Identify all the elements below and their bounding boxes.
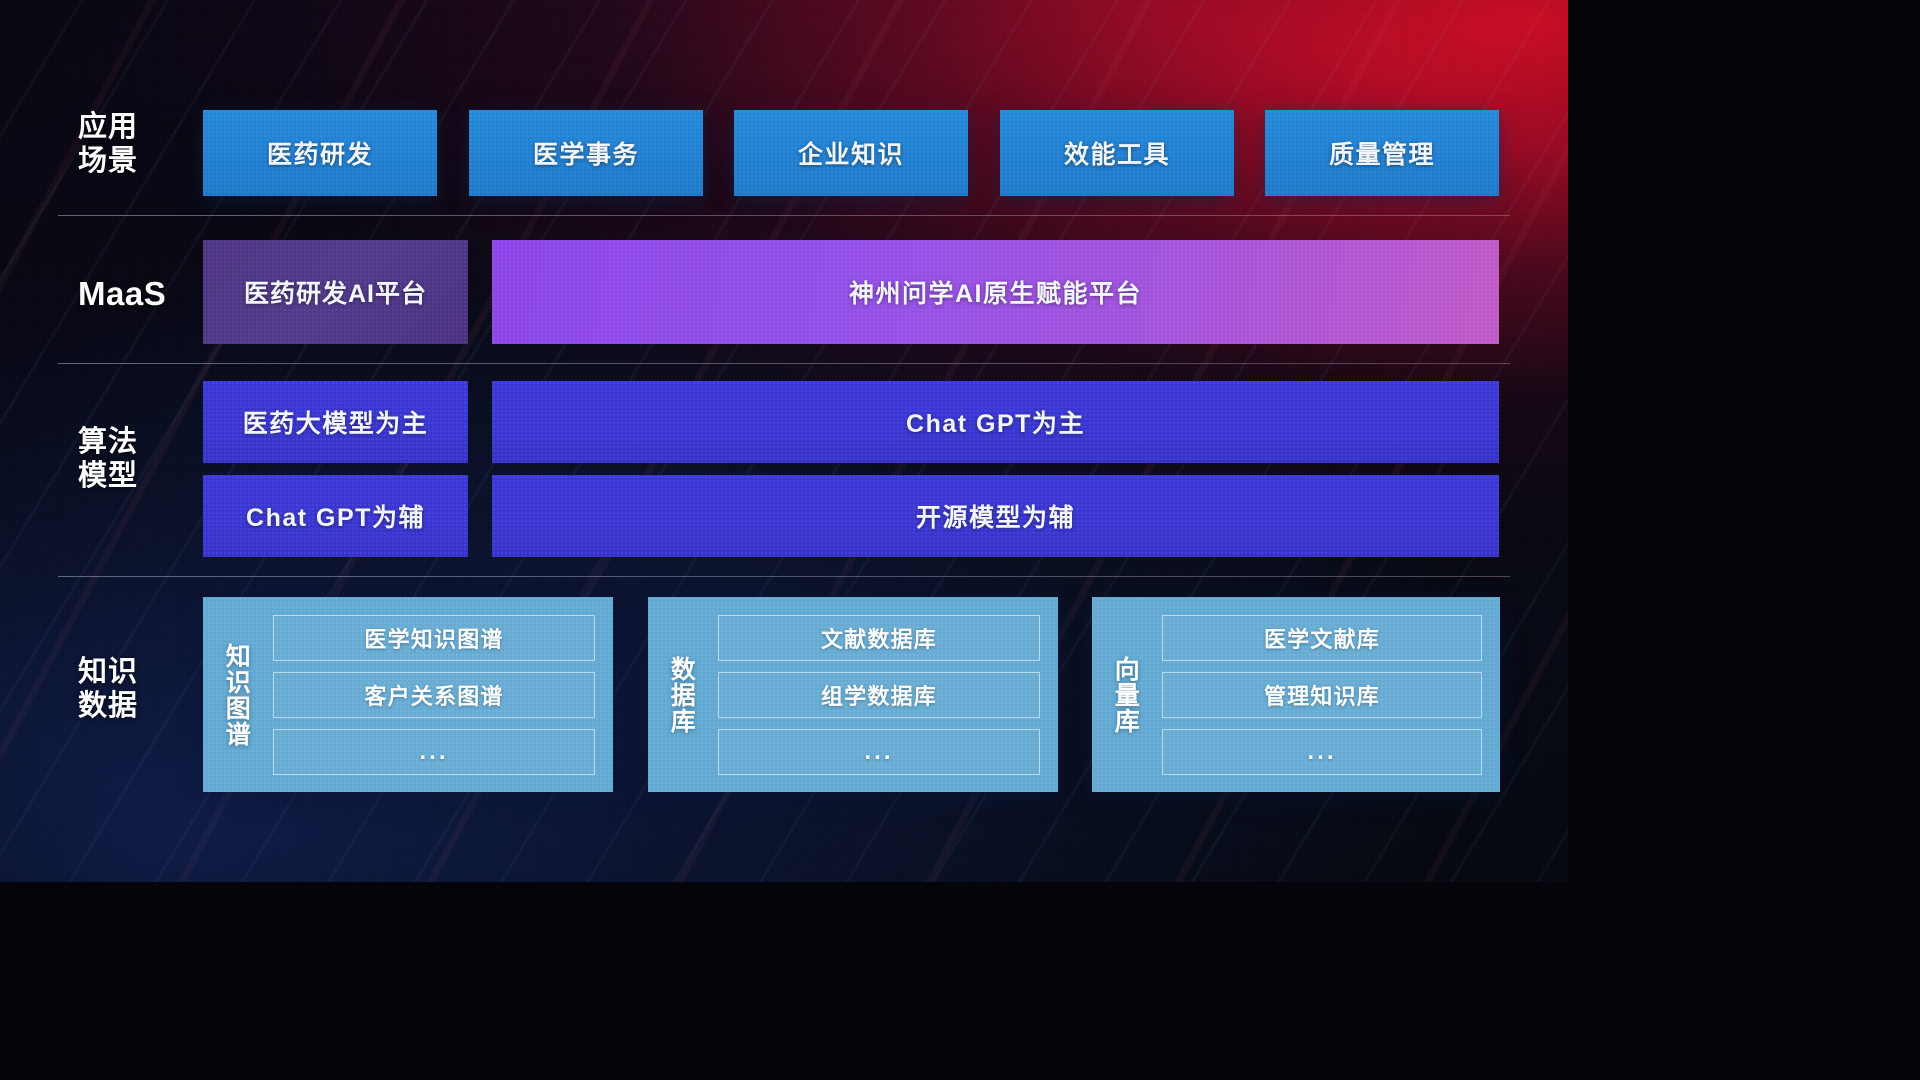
knowledge-panel-2-items: 医学文献库 管理知识库 ... [1158,597,1500,792]
row-label-knowledge: 知识 数据 [78,655,190,723]
algo-box-row1-right-label: 开源模型为辅 [916,498,1075,534]
algo-box-row0-left[interactable]: 医药大模型为主 [203,381,468,463]
algo-box-row1-left-label: Chat GPT为辅 [246,498,425,534]
app-box-1[interactable]: 医学事务 [469,110,703,196]
app-box-0-label: 医药研发 [267,135,373,171]
app-box-0[interactable]: 医药研发 [203,110,437,196]
knowledge-panel-2-title: 向量库 [1092,597,1158,792]
app-box-4[interactable]: 质量管理 [1265,110,1499,196]
knowledge-panel-1-item-2[interactable]: ... [718,729,1040,775]
row-label-application: 应用 场景 [78,110,190,178]
knowledge-panel-2[interactable]: 向量库 医学文献库 管理知识库 ... [1092,597,1500,792]
row-label-application-line1: 应用 [78,110,190,144]
app-box-4-label: 质量管理 [1329,135,1435,171]
algo-box-row0-right-label: Chat GPT为主 [906,404,1085,440]
knowledge-panel-0-items: 医学知识图谱 客户关系图谱 ... [269,597,613,792]
maas-left-label: 医药研发AI平台 [244,274,427,310]
row-label-knowledge-line1: 知识 [78,655,190,689]
diagram-canvas: 应用 场景 医药研发 医学事务 企业知识 效能工具 质量管理 MaaS 医药研发… [0,0,1568,882]
row-label-algorithm: 算法 模型 [78,425,190,493]
knowledge-panel-1-title: 数据库 [648,597,714,792]
app-box-2[interactable]: 企业知识 [734,110,968,196]
algo-box-row0-right[interactable]: Chat GPT为主 [492,381,1499,463]
row-label-maas-text: MaaS [78,275,190,314]
row-label-knowledge-line2: 数据 [78,689,190,723]
knowledge-panel-0[interactable]: 知识图谱 医学知识图谱 客户关系图谱 ... [203,597,613,792]
divider-maas-algorithm [58,363,1510,364]
diagram-content: 应用 场景 医药研发 医学事务 企业知识 效能工具 质量管理 MaaS 医药研发… [0,0,1568,882]
row-label-application-line2: 场景 [78,144,190,178]
divider-application-maas [58,215,1510,216]
app-box-3-label: 效能工具 [1064,135,1170,171]
divider-algorithm-knowledge [58,576,1510,577]
app-box-1-label: 医学事务 [533,135,639,171]
knowledge-panel-0-item-0[interactable]: 医学知识图谱 [273,615,595,661]
row-label-algorithm-line1: 算法 [78,425,190,459]
algo-box-row1-right[interactable]: 开源模型为辅 [492,475,1499,557]
knowledge-panel-1[interactable]: 数据库 文献数据库 组学数据库 ... [648,597,1058,792]
knowledge-panel-2-item-1[interactable]: 管理知识库 [1162,672,1482,718]
maas-right-label: 神州问学AI原生赋能平台 [849,274,1142,310]
knowledge-panel-0-title: 知识图谱 [203,597,269,792]
knowledge-panel-0-item-1[interactable]: 客户关系图谱 [273,672,595,718]
knowledge-panel-1-item-0[interactable]: 文献数据库 [718,615,1040,661]
app-box-2-label: 企业知识 [798,135,904,171]
algo-box-row1-left[interactable]: Chat GPT为辅 [203,475,468,557]
knowledge-panel-2-item-0[interactable]: 医学文献库 [1162,615,1482,661]
maas-right-box[interactable]: 神州问学AI原生赋能平台 [492,240,1499,344]
row-label-algorithm-line2: 模型 [78,459,190,493]
knowledge-panel-2-item-2[interactable]: ... [1162,729,1482,775]
maas-left-box[interactable]: 医药研发AI平台 [203,240,468,344]
knowledge-panel-1-item-1[interactable]: 组学数据库 [718,672,1040,718]
knowledge-panel-1-items: 文献数据库 组学数据库 ... [714,597,1058,792]
knowledge-panel-0-item-2[interactable]: ... [273,729,595,775]
row-label-maas: MaaS [78,275,190,314]
algo-box-row0-left-label: 医药大模型为主 [243,404,429,440]
app-box-3[interactable]: 效能工具 [1000,110,1234,196]
